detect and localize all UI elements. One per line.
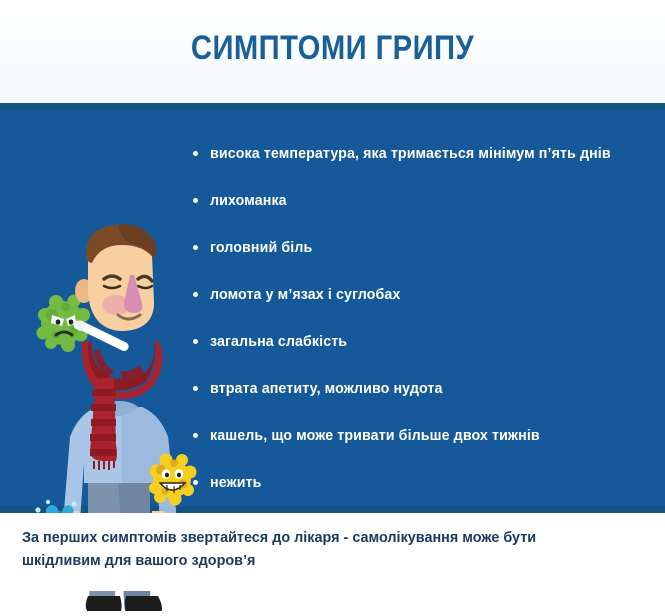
symptom-label: загальна слабкість [210,333,347,350]
list-item: висока температура, яка тримається мінім… [193,130,658,177]
footer-area: За перших симптомів звертайтеся до лікар… [0,513,665,591]
list-item: загальна слабкість [193,318,658,365]
symptom-list: висока температура, яка тримається мінім… [193,130,658,506]
symptom-label: втрата апетиту, можливо нудота [210,380,443,397]
symptom-label: висока температура, яка тримається мінім… [210,145,611,162]
symptom-label: нежить [210,474,262,491]
bullet-dot-icon [193,480,198,485]
symptom-label: лихоманка [210,192,287,209]
panel-top-divider [0,103,665,109]
symptom-label: кашель, що може тривати більше двох тижн… [210,427,540,444]
list-item: нежить [193,459,658,506]
list-item: кашель, що може тривати більше двох тижн… [193,412,658,459]
list-item: ломота у м’язах і суглобах [193,271,658,318]
bullet-dot-icon [193,151,198,156]
list-item: лихоманка [193,177,658,224]
symptom-label: ломота у м’язах і суглобах [210,286,400,303]
bullet-dot-icon [193,245,198,250]
title-area: СИМПТОМИ ГРИПУ [0,0,665,103]
infographic-root: СИМПТОМИ ГРИПУ [0,0,665,591]
bullet-dot-icon [193,292,198,297]
symptom-label: головний біль [210,239,312,256]
bullet-dot-icon [193,433,198,438]
bullet-dot-icon [193,198,198,203]
list-item: втрата апетиту, можливо нудота [193,365,658,412]
bullet-dot-icon [193,339,198,344]
content-panel: висока температура, яка тримається мінім… [0,103,665,513]
shoes [86,596,162,611]
page-title: СИМПТОМИ ГРИПУ [47,28,619,68]
bullet-dot-icon [193,386,198,391]
footer-advisory-text: За перших симптомів звертайтеся до лікар… [22,526,598,572]
list-item: головний біль [193,224,658,271]
